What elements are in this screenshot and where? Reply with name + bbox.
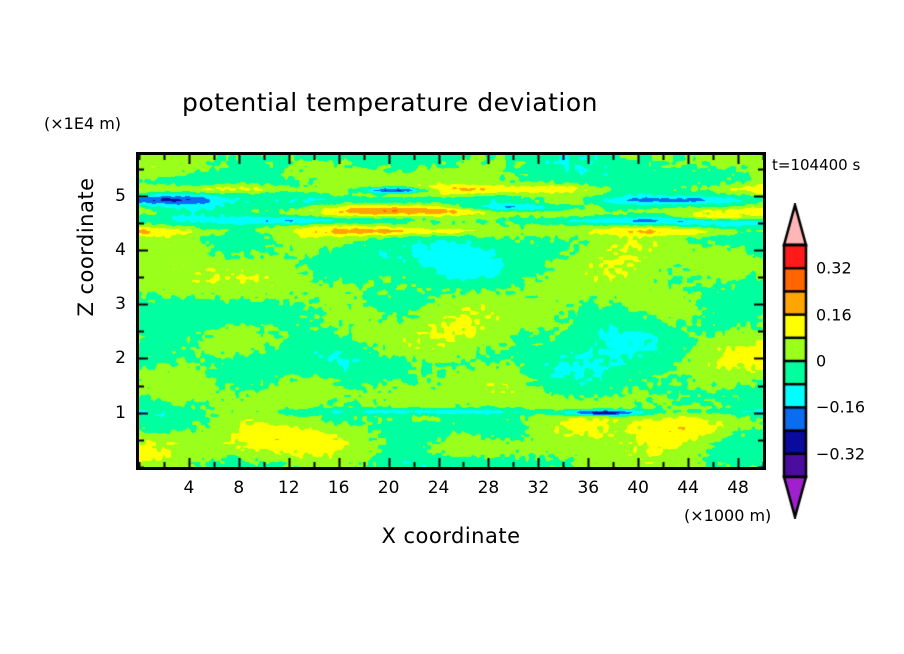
colorbar-tick-label: −0.16 — [816, 398, 865, 417]
y-axis-title: Z coordinate — [74, 137, 98, 357]
colorbar-tick-label: 0.16 — [816, 305, 852, 324]
x-tick-label: 12 — [278, 478, 300, 498]
y-tick-label: 4 — [102, 240, 126, 260]
y-tick-label: 2 — [102, 348, 126, 368]
x-tick-label: 32 — [528, 478, 550, 498]
time-annotation: t=104400 s — [772, 156, 860, 174]
colorbar-gradient — [778, 203, 812, 519]
colorbar-tick-label: −0.32 — [816, 444, 865, 463]
page-title: potential temperature deviation — [0, 88, 780, 117]
x-axis-unit-label: (×1000 m) — [684, 506, 771, 525]
x-tick-label: 48 — [727, 478, 749, 498]
colorbar[interactable] — [778, 203, 812, 519]
x-tick-label: 4 — [183, 478, 194, 498]
x-tick-label: 8 — [233, 478, 244, 498]
y-tick-label: 3 — [102, 294, 126, 314]
z-axis-unit-label: (×1E4 m) — [44, 114, 121, 133]
x-tick-label: 28 — [478, 478, 500, 498]
colorbar-tick-label: 0.32 — [816, 259, 852, 278]
y-tick-label: 5 — [102, 186, 126, 206]
contour-field — [139, 155, 763, 467]
figure-canvas: potential temperature deviation (×1E4 m)… — [0, 0, 904, 654]
contour-plot-area[interactable] — [136, 152, 766, 470]
x-tick-label: 36 — [577, 478, 599, 498]
y-tick-label: 1 — [102, 403, 126, 423]
x-axis-title: X coordinate — [136, 524, 766, 548]
x-tick-label: 24 — [428, 478, 450, 498]
x-tick-label: 40 — [627, 478, 649, 498]
colorbar-tick-label: 0 — [816, 352, 826, 371]
x-tick-label: 16 — [328, 478, 350, 498]
x-tick-label: 20 — [378, 478, 400, 498]
x-tick-label: 44 — [677, 478, 699, 498]
